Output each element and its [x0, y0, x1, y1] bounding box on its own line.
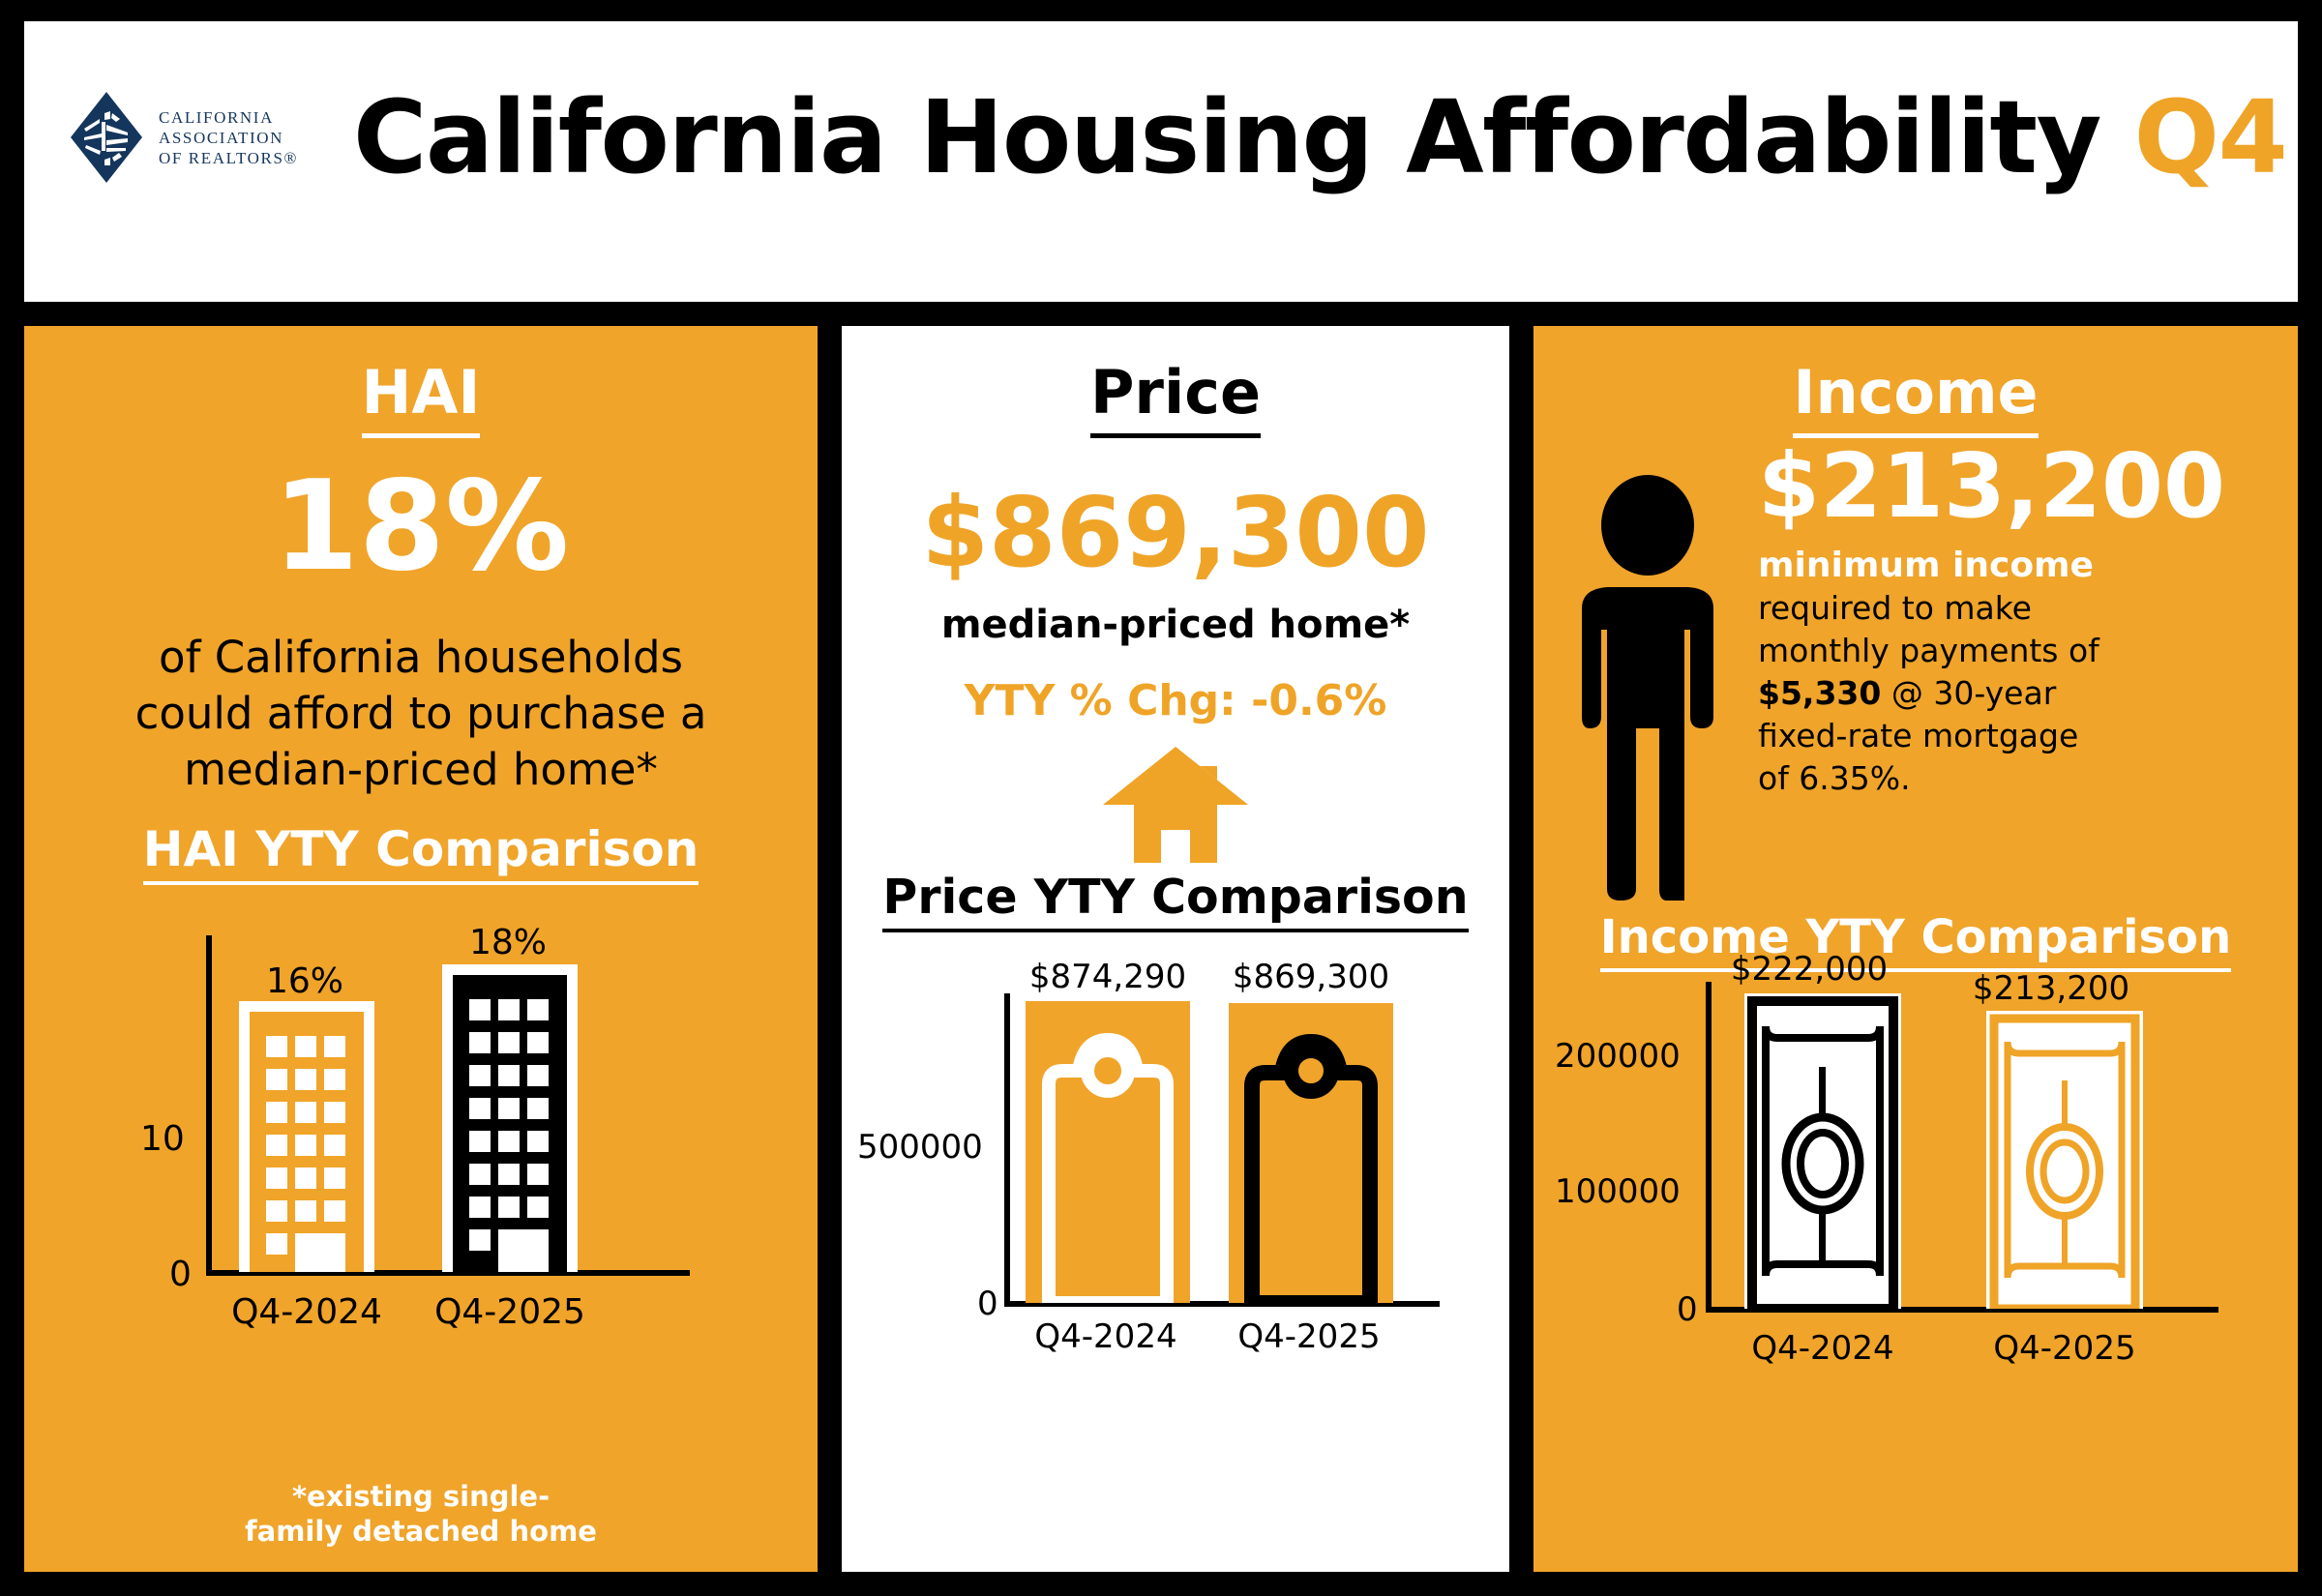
- income-chart-title: Income YTY Comparison: [1533, 914, 2298, 961]
- hai-chart-title-text: HAI YTY Comparison: [143, 821, 700, 885]
- income-summary-row: $213,200 minimum income required to make…: [1533, 432, 2298, 901]
- income-heading-text: Income: [1793, 357, 2038, 438]
- price-chart-title-text: Price YTY Comparison: [882, 870, 1468, 932]
- income-cat-label-1: Q4-2025: [1973, 1332, 2157, 1365]
- price-heading-text: Price: [1090, 357, 1261, 438]
- income-desc-line6: of 6.35%.: [1758, 759, 1911, 797]
- hai-footnote: *existing single- family detached home: [24, 1479, 818, 1549]
- income-chart: 200000 100000 0 $222,000 Q4-2024 $213,20…: [1533, 964, 2298, 1371]
- price-chart-title: Price YTY Comparison: [842, 873, 1509, 921]
- hai-heading: HAI: [24, 326, 818, 423]
- hai-footnote-line2: family detached home: [245, 1515, 597, 1548]
- hai-ytick-10: 10: [140, 1122, 185, 1157]
- person-icon: [1561, 475, 1735, 901]
- income-value-label-0: $222,000: [1717, 953, 1901, 986]
- income-ytick-0: 0: [1677, 1293, 1698, 1326]
- hai-value: 18%: [24, 465, 818, 589]
- price-tag-icon: [1026, 1001, 1190, 1303]
- price-value-label-0: $874,290: [1016, 961, 1200, 993]
- price-cat-label-0: Q4-2024: [1014, 1320, 1198, 1353]
- page-title: California Housing Affordability Q4 2025: [353, 70, 2278, 205]
- income-value-label-1: $213,200: [1959, 972, 2143, 1005]
- hai-y-axis: [206, 935, 212, 1274]
- price-value-label-1: $869,300: [1219, 961, 1403, 993]
- hai-value-label-1: 18%: [421, 926, 595, 961]
- banknote-icon: [1986, 1011, 2143, 1309]
- price-subtitle: median-priced home*: [842, 603, 1509, 647]
- hai-footnote-line1: *existing single-: [292, 1480, 550, 1513]
- price-heading: Price: [842, 326, 1509, 423]
- page-title-quarter: Q4 2025: [2134, 78, 2322, 196]
- hai-chart: 10 0 16% Q4-2024 18%: [24, 926, 818, 1332]
- income-desc-lead: minimum income: [1758, 546, 2094, 585]
- car-logo-mark: [68, 90, 145, 185]
- panel-price: Price $869,300 median-priced home* YTY %…: [842, 326, 1509, 1572]
- price-ytd-change: YTY % Chg: -0.6%: [842, 676, 1509, 725]
- hai-cat-label-0: Q4-2024: [220, 1295, 394, 1330]
- hai-heading-text: HAI: [362, 357, 481, 438]
- income-desc-payment: $5,330: [1758, 674, 1881, 712]
- banknote-icon: [1744, 993, 1901, 1309]
- car-logo: CALIFORNIA ASSOCIATION OF REALTORS®: [68, 84, 324, 191]
- building-icon: [239, 1001, 374, 1272]
- logo-line-2: ASSOCIATION: [159, 130, 298, 146]
- logo-line-3: OF REALTORS®: [159, 150, 298, 166]
- income-desc-line3: monthly payments of: [1758, 632, 2099, 669]
- income-value: $213,200: [1758, 442, 2225, 531]
- page-title-main: California Housing Affordability: [353, 78, 2100, 196]
- income-ytick-100000: 100000: [1555, 1175, 1681, 1208]
- price-ytick-0: 0: [977, 1287, 998, 1320]
- logo-line-1: CALIFORNIA: [159, 109, 298, 126]
- income-desc-line2: required to make: [1758, 589, 2032, 627]
- income-description: minimum income required to make monthly …: [1758, 545, 2164, 800]
- income-desc-line5: fixed-rate mortgage: [1758, 717, 2078, 754]
- income-cat-label-0: Q4-2024: [1731, 1332, 1915, 1365]
- building-icon: [442, 964, 578, 1272]
- house-icon: [1103, 745, 1248, 866]
- infographic-page: CALIFORNIA ASSOCIATION OF REALTORS® Cali…: [0, 0, 2322, 1596]
- income-y-axis: [1706, 982, 1712, 1311]
- car-logo-text: CALIFORNIA ASSOCIATION OF REALTORS®: [159, 109, 298, 166]
- hai-value-label-0: 16%: [218, 964, 392, 999]
- hai-ytick-0: 0: [169, 1257, 192, 1292]
- income-chart-title-text: Income YTY Comparison: [1600, 910, 2232, 972]
- income-ytick-200000: 200000: [1555, 1040, 1681, 1073]
- price-cat-label-1: Q4-2025: [1217, 1320, 1401, 1353]
- price-chart: 500000 0 $874,290 Q4-2024 $869,300 Q4-20…: [842, 976, 1509, 1363]
- price-ytick-500000: 500000: [857, 1131, 983, 1164]
- panel-hai: HAI 18% of California households could a…: [24, 326, 818, 1572]
- income-desc-term: @ 30-year: [1881, 674, 2056, 712]
- panel-income: Income $213,200 minimum income required …: [1533, 326, 2298, 1572]
- price-y-axis: [1004, 993, 1010, 1305]
- header-bar: CALIFORNIA ASSOCIATION OF REALTORS® Cali…: [24, 21, 2298, 302]
- hai-chart-title: HAI YTY Comparison: [24, 825, 818, 873]
- income-heading: Income: [1533, 326, 2298, 423]
- hai-cat-label-1: Q4-2025: [423, 1295, 597, 1330]
- price-tag-icon: [1229, 1003, 1393, 1303]
- price-value: $869,300: [842, 485, 1509, 581]
- hai-description: of California households could afford to…: [111, 630, 730, 798]
